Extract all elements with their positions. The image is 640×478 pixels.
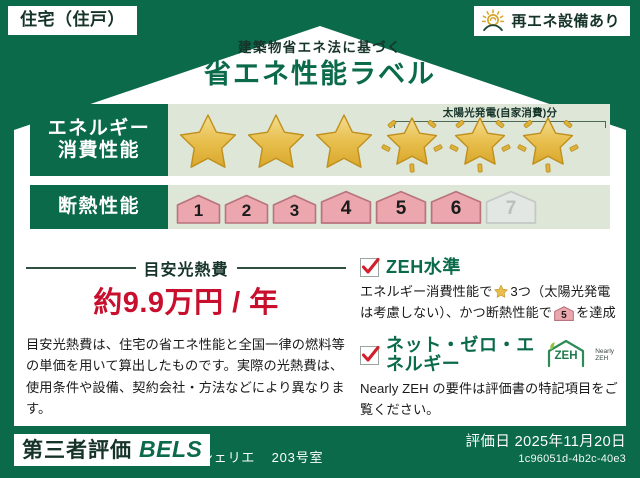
performance-rows: エネルギー 消費性能 太陽光発電(自家消費)分: [30, 104, 610, 229]
star-icon-solar: [378, 106, 446, 174]
energy-performance-row: エネルギー 消費性能 太陽光発電(自家消費)分: [30, 104, 610, 176]
utility-cost-section: 目安光熱費 約9.9万円 / 年 目安光熱費は、住宅の省エネ性能と全国一律の燃料…: [26, 256, 346, 421]
insulation-badge-number: 7: [506, 199, 517, 224]
bels-en-label: BELS: [139, 437, 202, 462]
insulation-badge-number: 1: [194, 202, 203, 224]
zeh-logo-icon: ZEH: [544, 338, 588, 373]
energy-performance-label: エネルギー 消費性能: [30, 104, 168, 176]
renewable-badge-label: 再エネ設備あり: [511, 14, 620, 29]
energy-label-line2: 消費性能: [58, 140, 140, 162]
footer: 第三者評価 BELS シェリエ 203号室 評価日 2025年11月20日 1c…: [0, 426, 640, 478]
utility-cost-title: 目安光熱費: [144, 256, 229, 280]
star-icon: [174, 106, 242, 174]
zeh-standard-header: ZEH水準: [360, 258, 618, 278]
insulation-badge: 3: [272, 194, 317, 224]
evaluation-date: 評価日 2025年11月20日: [466, 433, 626, 451]
insulation-performance-value: 1 2 3 4 5: [168, 185, 610, 229]
zeh-standard-block: ZEH水準 エネルギー消費性能で3つ（太陽光発電は考慮しない）、かつ断熱性能で5…: [360, 258, 618, 324]
insulation-badge: 1: [176, 194, 221, 224]
bels-jp-label: 第三者評価: [22, 439, 132, 462]
insulation-badge-row: 1 2 3 4 5: [168, 185, 537, 229]
sun-icon: [480, 9, 506, 33]
zeh-body-text-a: エネルギー消費性能で: [360, 284, 492, 299]
net-zero-header: ネット・ゼロ・エネルギー ZEH Nearly ZEH: [360, 336, 618, 376]
category-tag: 住宅（住戸）: [8, 6, 137, 35]
zeh-logo-sublabel: Nearly ZEH: [595, 348, 618, 362]
star-icon: [242, 106, 310, 174]
bels-badge: 第三者評価 BELS: [14, 434, 210, 466]
rule-right: [237, 267, 347, 269]
utility-cost-title-row: 目安光熱費: [26, 256, 346, 280]
evaluation-id: 1c96051d-4b2c-40e3: [466, 453, 626, 465]
insulation-badge-number: 3: [290, 202, 299, 224]
insulation-badge: 2: [224, 194, 269, 224]
lower-content: 目安光熱費 約9.9万円 / 年 目安光熱費は、住宅の省エネ性能と全国一律の燃料…: [26, 256, 618, 421]
checkmark-icon: [360, 258, 379, 277]
energy-label-line1: エネルギー: [48, 118, 151, 140]
inline-insulation-badge: 5: [554, 306, 574, 321]
insulation-badge-inactive: 7: [485, 190, 537, 224]
insulation-badge-number: 5: [396, 199, 407, 224]
inline-badge-number: 5: [554, 311, 574, 321]
zeh-standard-body: エネルギー消費性能で3つ（太陽光発電は考慮しない）、かつ断熱性能で5を達成: [360, 282, 618, 324]
insulation-badge: 4: [320, 190, 372, 224]
insulation-badge: 6: [430, 190, 482, 224]
utility-cost-amount: 約9.9万円 / 年: [26, 288, 346, 320]
zeh-body-text-b: は考慮しない）、かつ断熱性能で: [360, 305, 552, 320]
building-name: シェリエ: [200, 450, 255, 465]
energy-performance-value: 太陽光発電(自家消費)分: [168, 104, 610, 176]
zeh-section: ZEH水準 エネルギー消費性能で3つ（太陽光発電は考慮しない）、かつ断熱性能で5…: [360, 256, 618, 421]
star-icon-solar: [446, 106, 514, 174]
zeh-body-text-c: を達成: [576, 305, 616, 320]
star-icon-solar: [514, 106, 582, 174]
insulation-performance-label: 断熱性能: [30, 185, 168, 229]
insulation-badge: 5: [375, 190, 427, 224]
net-zero-block: ネット・ゼロ・エネルギー ZEH Nearly ZEH Nearly ZEH の…: [360, 336, 618, 421]
checkmark-icon: [360, 346, 379, 365]
inline-star-icon: [493, 283, 509, 299]
utility-cost-note: 目安光熱費は、住宅の省エネ性能と全国一律の燃料等の単価を用いて算出したものです。…: [26, 334, 346, 420]
net-zero-title: ネット・ゼロ・エネルギー: [386, 336, 537, 376]
star-rating: [168, 104, 610, 176]
room-number: 203号室: [272, 450, 324, 465]
star-icon: [310, 106, 378, 174]
energy-label-root: 住宅（住戸） 再エネ設備あり 建築物省エネ法に基づく: [0, 0, 640, 478]
zeh-body-text-star: 3つ（太陽光発電: [510, 284, 610, 299]
renewable-equipment-badge: 再エネ設備あり: [474, 6, 630, 36]
evaluation-info: 評価日 2025年11月20日 1c96051d-4b2c-40e3: [466, 433, 626, 465]
insulation-performance-row: 断熱性能 1 2 3: [30, 185, 610, 229]
zeh-standard-title: ZEH水準: [386, 258, 461, 278]
net-zero-body: Nearly ZEH の要件は評価書の特記項目をご覧ください。: [360, 379, 618, 421]
insulation-badge-number: 2: [242, 202, 251, 224]
rule-left: [26, 267, 136, 269]
insulation-badge-number: 4: [341, 199, 352, 224]
insulation-badge-number: 6: [451, 199, 462, 224]
building-room-info: シェリエ 203号室: [200, 447, 323, 466]
svg-text:ZEH: ZEH: [555, 350, 578, 362]
